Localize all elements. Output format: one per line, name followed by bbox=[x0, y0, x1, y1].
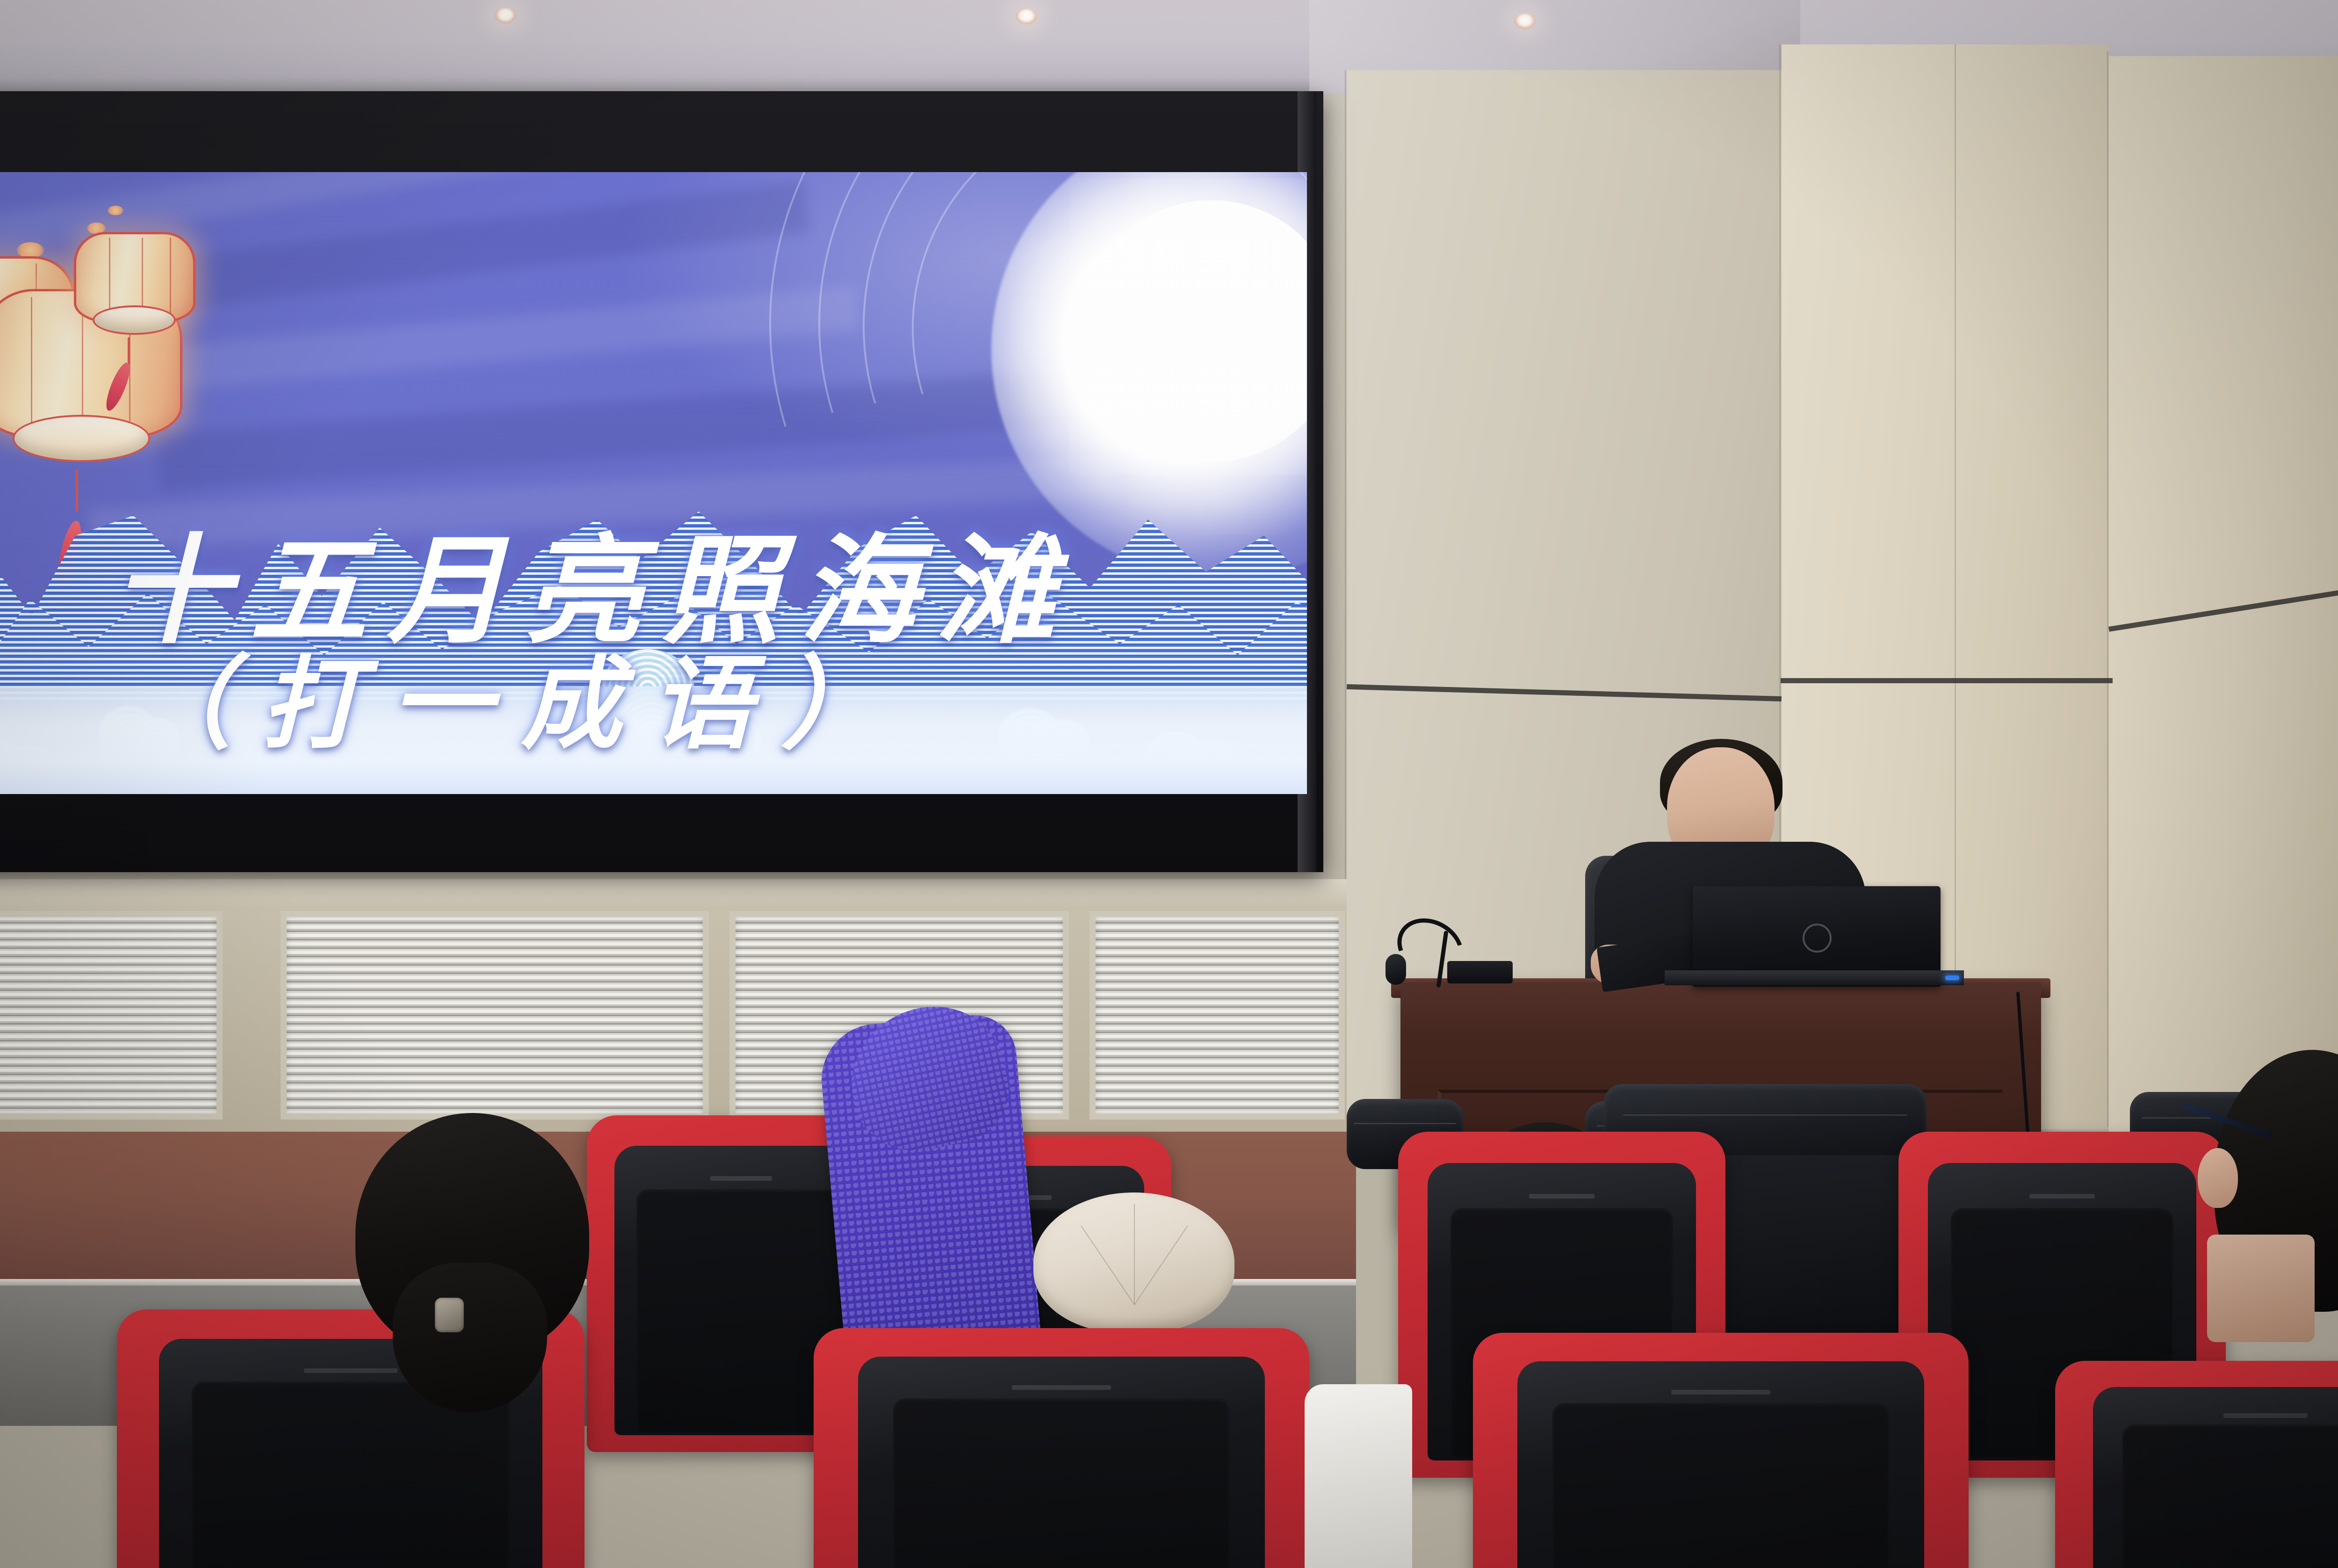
ceiling-downlight-3 bbox=[1514, 13, 1536, 29]
microphone-base bbox=[1447, 961, 1513, 983]
microphone-capsule bbox=[1385, 954, 1406, 985]
wall-panel-right bbox=[2109, 56, 2338, 1132]
led-presentation-screen[interactable]: 十五月亮照海滩 （打一成语） bbox=[0, 172, 1307, 794]
ceiling-downlight-2 bbox=[1016, 8, 1037, 24]
seat-tag bbox=[1671, 1390, 1770, 1395]
attendee-cap bbox=[1033, 1192, 1234, 1333]
attendee-ponytail-hair bbox=[393, 1263, 547, 1412]
seat-tag bbox=[2223, 1413, 2308, 1418]
laptop-base bbox=[1665, 970, 1964, 985]
wall-reveal-line-right bbox=[1781, 678, 2113, 683]
vent-grille-4 bbox=[1090, 911, 1345, 1120]
cap-seam bbox=[1134, 1225, 1188, 1305]
attendee-neck bbox=[2207, 1235, 2315, 1342]
dado-top-band bbox=[0, 879, 1347, 906]
vent-grille-2 bbox=[281, 911, 709, 1120]
seat-pad-inner bbox=[1552, 1403, 1890, 1568]
hair-clip bbox=[435, 1298, 464, 1332]
seat-tag bbox=[2029, 1194, 2095, 1199]
seat-front-2[interactable] bbox=[814, 1328, 1309, 1568]
headrest-stitch bbox=[1354, 1123, 1457, 1124]
seat-front-3[interactable] bbox=[1473, 1333, 1969, 1568]
seat-pad-inner bbox=[2122, 1424, 2338, 1568]
auditorium-scene: 十五月亮照海滩 （打一成语） bbox=[0, 0, 2338, 1568]
seat-tag bbox=[1529, 1194, 1595, 1199]
panel-seam-3 bbox=[2107, 51, 2108, 1127]
seat-pad-inner bbox=[893, 1398, 1230, 1568]
panel-seam-2 bbox=[1955, 44, 1956, 1129]
seat-tag bbox=[1012, 1385, 1111, 1390]
seat-tag bbox=[304, 1368, 397, 1373]
cap-seam bbox=[1081, 1225, 1135, 1305]
ceiling-downlight-1 bbox=[495, 7, 516, 23]
laptop-status-led bbox=[1945, 975, 1959, 980]
vent-grille-1 bbox=[0, 911, 223, 1120]
seat-front-4[interactable] bbox=[2055, 1361, 2338, 1568]
headrest-stitch bbox=[1623, 1114, 1907, 1116]
dell-logo-icon bbox=[1803, 924, 1832, 953]
seat-tag bbox=[710, 1176, 772, 1181]
attendee-white-sleeve bbox=[1305, 1384, 1412, 1568]
attendee-ear bbox=[2198, 1148, 2238, 1208]
cap-seam bbox=[1134, 1204, 1135, 1305]
screen-pixel-texture bbox=[0, 172, 1307, 794]
